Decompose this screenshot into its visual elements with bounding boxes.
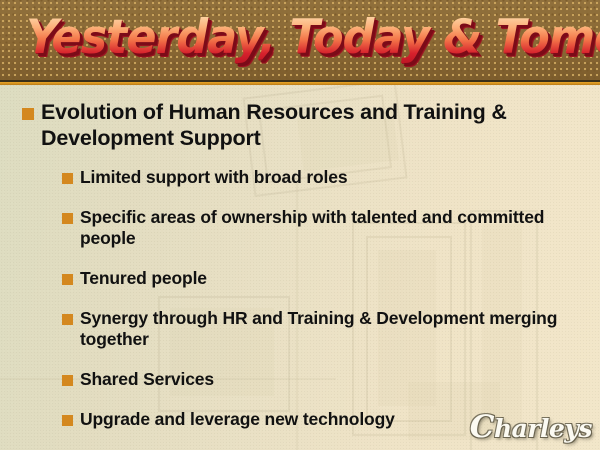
- slide-title: Yesterday, Today & Tomorrow: [26, 6, 600, 70]
- bullet-level2-text: Limited support with broad roles: [80, 167, 347, 188]
- bullet-level2-item: Shared Services: [62, 369, 582, 390]
- bullet-level2-text: Shared Services: [80, 369, 214, 390]
- title-container: Yesterday, Today & Tomorrow: [26, 6, 598, 76]
- orange-square-bullet-icon: [62, 415, 73, 426]
- logo-initial: C: [470, 409, 494, 445]
- bullet-level2-item: Specific areas of ownership with talente…: [62, 207, 582, 249]
- bullet-level2-text: Synergy through HR and Training & Develo…: [80, 308, 582, 350]
- bullet-level1-item: Evolution of Human Resources and Trainin…: [22, 99, 574, 151]
- bullet-level2-text: Tenured people: [80, 268, 207, 289]
- orange-square-bullet-icon: [62, 375, 73, 386]
- presentation-slide: Yesterday, Today & Tomorrow Evolution of…: [0, 0, 600, 450]
- slide-header-band: Yesterday, Today & Tomorrow: [0, 0, 600, 80]
- bullet-level1-text: Evolution of Human Resources and Trainin…: [41, 99, 574, 151]
- orange-square-bullet-icon: [22, 108, 34, 120]
- orange-square-bullet-icon: [62, 274, 73, 285]
- orange-square-bullet-icon: [62, 213, 73, 224]
- bullet-level2-text: Upgrade and leverage new technology: [80, 409, 395, 430]
- bullet-level2-item: Synergy through HR and Training & Develo…: [62, 308, 582, 350]
- slide-body: Evolution of Human Resources and Trainin…: [0, 85, 600, 450]
- charleys-logo: Charleys: [470, 412, 592, 444]
- orange-square-bullet-icon: [62, 173, 73, 184]
- bullet-level2-text: Specific areas of ownership with talente…: [80, 207, 582, 249]
- orange-square-bullet-icon: [62, 314, 73, 325]
- logo-wordmark: harleys: [494, 414, 592, 443]
- bullet-level2-item: Tenured people: [62, 268, 582, 289]
- bullet-level2-item: Limited support with broad roles: [62, 167, 582, 188]
